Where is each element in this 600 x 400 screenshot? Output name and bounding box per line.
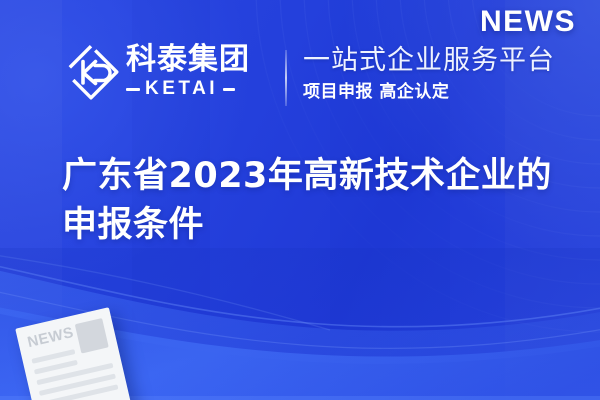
- logo-wordmark: 科泰集团 KETAI: [126, 43, 276, 103]
- slogan-block: 一站式企业服务平台 项目申报 高企认定: [303, 44, 573, 103]
- logo-company-name-cn: 科泰集团: [126, 43, 276, 77]
- banner-header: 科泰集团 KETAI 一站式企业服务平台 项目申报 高企认定 NEWS: [0, 0, 600, 140]
- right-dash-icon: [223, 88, 235, 91]
- slogan-sub-text: 项目申报 高企认定: [303, 81, 573, 103]
- page-title: 广东省2023年高新技术企业的申报条件: [62, 152, 572, 250]
- logo-company-name-en-row: KETAI: [126, 79, 276, 99]
- vertical-divider-icon: [285, 50, 287, 106]
- newspaper-sheet: NEWS: [15, 307, 132, 400]
- logo-company-name-en: KETAI: [145, 79, 218, 99]
- slogan-main-text: 一站式企业服务平台: [303, 44, 573, 77]
- news-banner: 科泰集团 KETAI 一站式企业服务平台 项目申报 高企认定 NEWS 广东省2…: [0, 0, 600, 400]
- ketai-diamond-k-logo-icon: [62, 43, 120, 101]
- left-dash-icon: [126, 88, 140, 91]
- news-badge: NEWS: [480, 5, 576, 39]
- newspaper-text-lines: [31, 341, 119, 400]
- newspaper-illustration: NEWS: [15, 307, 132, 400]
- newspaper-title: NEWS: [26, 325, 75, 351]
